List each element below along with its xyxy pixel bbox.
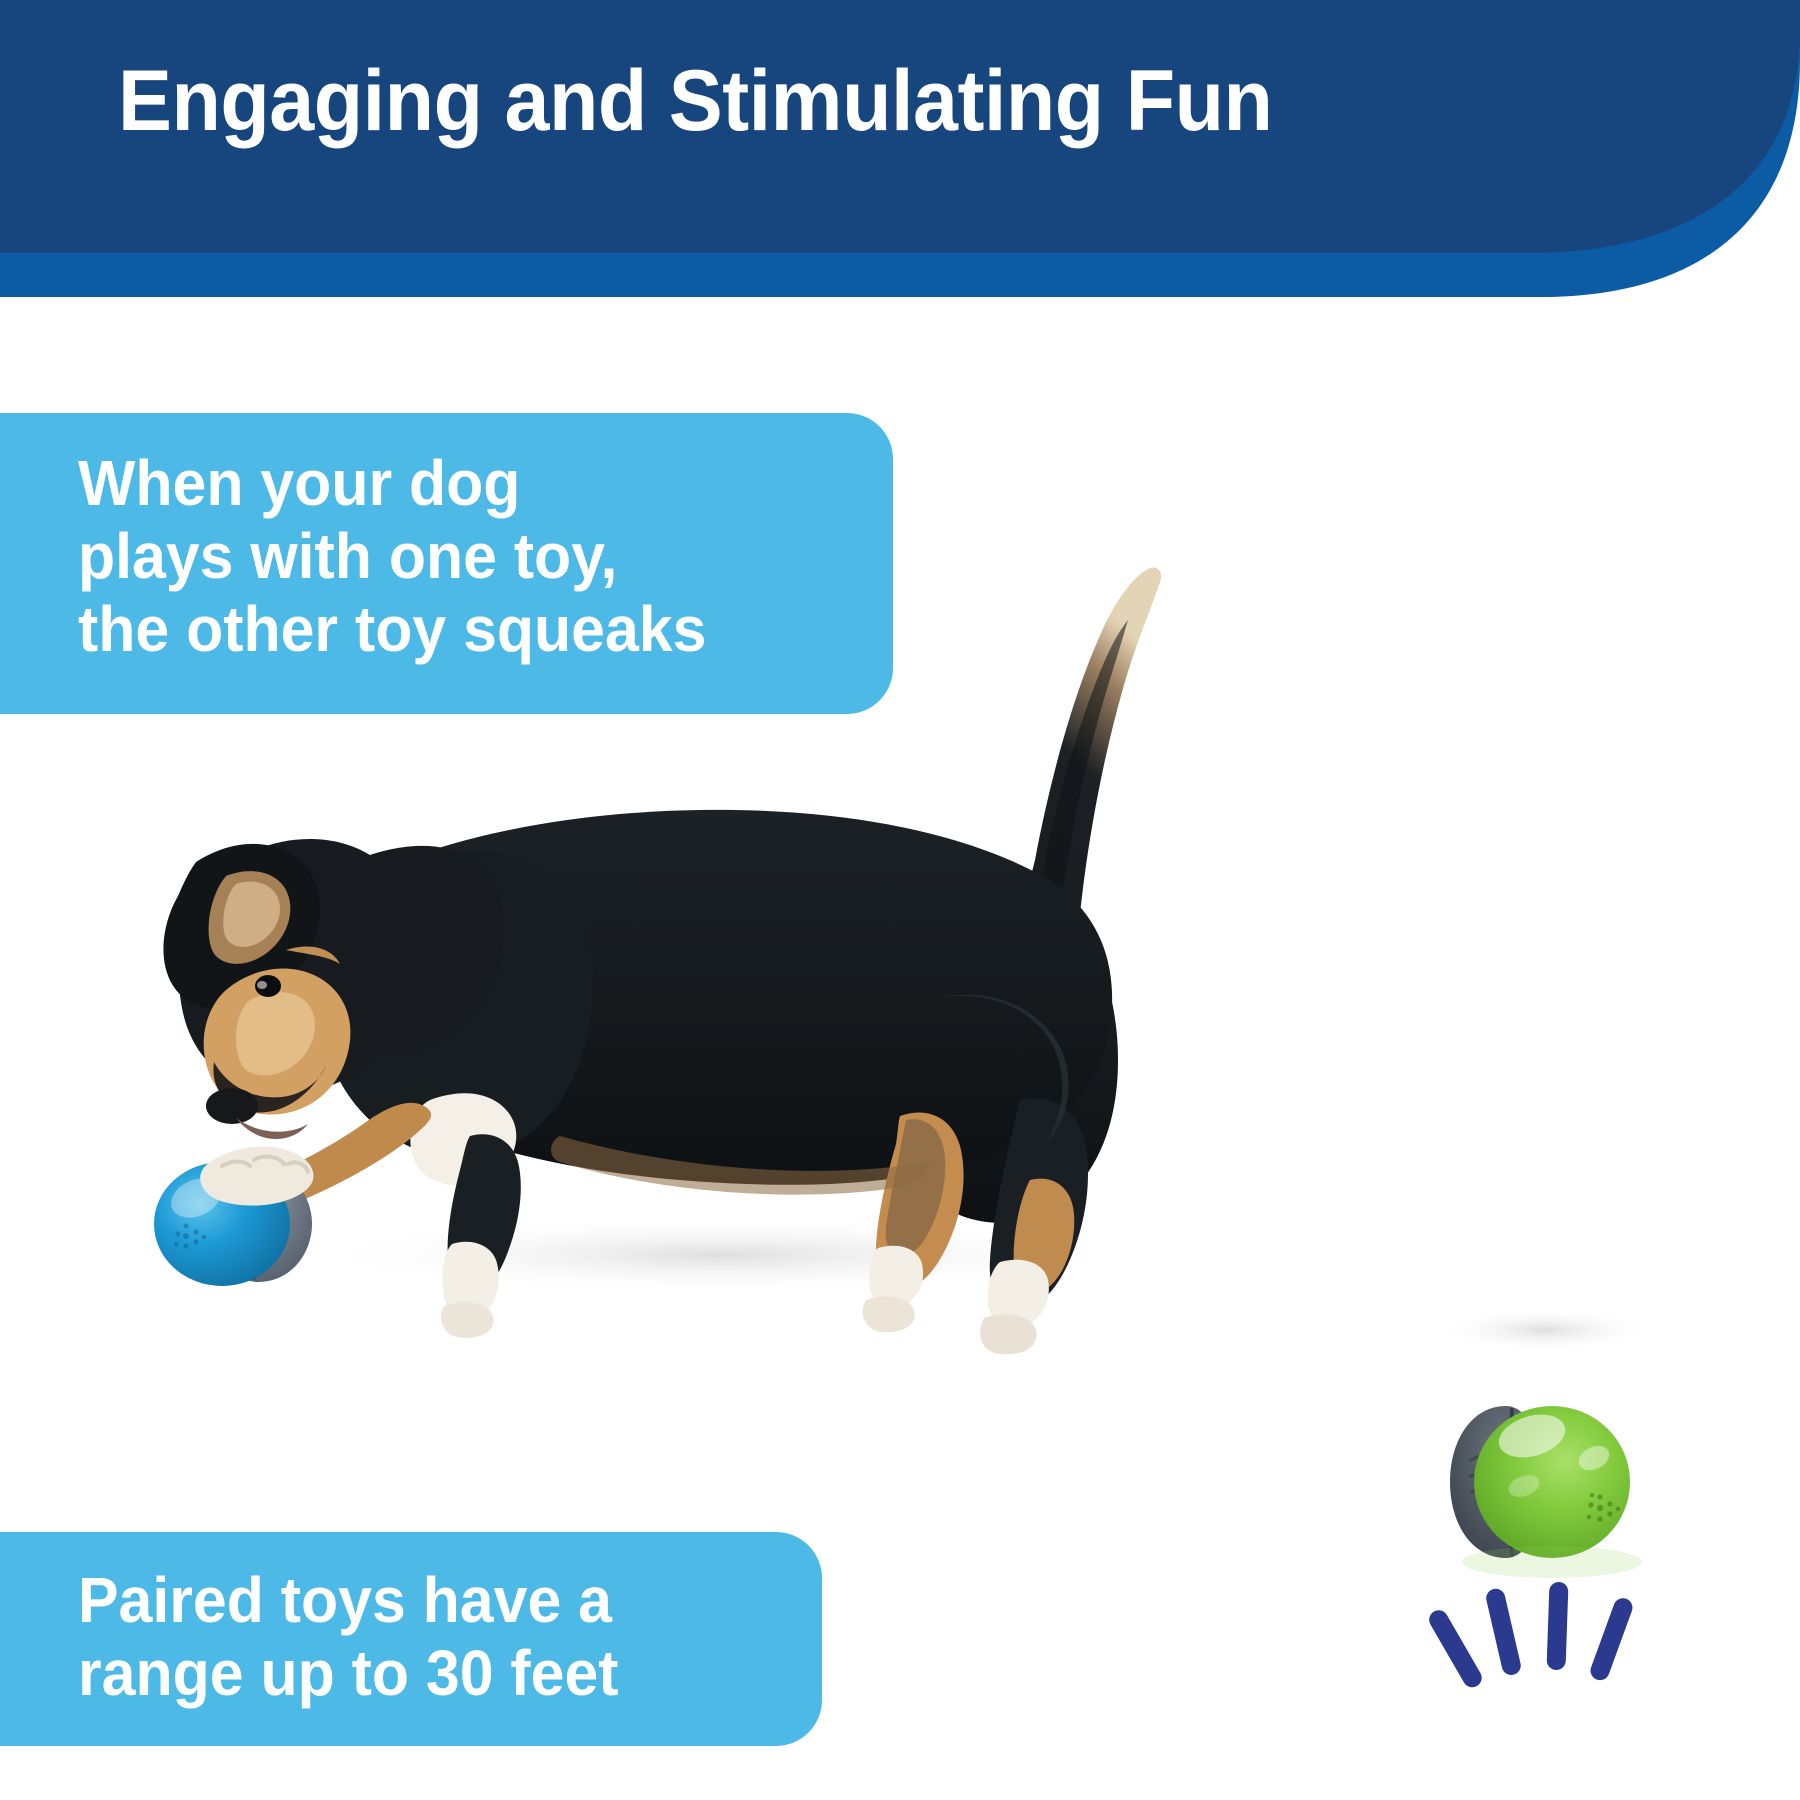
green-ball-shadow <box>1435 1308 1655 1352</box>
squeak-line-4 <box>1588 1596 1635 1683</box>
header-banner <box>0 0 1800 310</box>
dog-mouth <box>236 1118 308 1139</box>
squeak-callout-line-3: the other toy squeaks <box>78 593 852 666</box>
dog-front-foot <box>441 1302 494 1338</box>
squeak-indicator <box>1426 1582 1635 1691</box>
squeak-line-1 <box>1426 1607 1485 1691</box>
squeak-line-2 <box>1484 1587 1522 1677</box>
range-callout: Paired toys have a range up to 30 feet <box>0 1532 822 1746</box>
blue-toy-ball <box>154 1147 314 1286</box>
green-toy-ball <box>1450 1406 1642 1578</box>
range-callout-line-1: Paired toys have a <box>78 1564 785 1637</box>
dog-hind-foot-near <box>980 1314 1036 1354</box>
green-ball-glow <box>1462 1546 1642 1578</box>
range-callout-line-2: range up to 30 feet <box>78 1637 785 1710</box>
dog-eye-shine <box>257 981 267 989</box>
dog-nose <box>206 1088 258 1124</box>
squeak-callout: When your dog plays with one toy, the ot… <box>0 413 893 714</box>
squeak-callout-line-2: plays with one toy, <box>78 520 852 593</box>
page-title: Engaging and Stimulating Fun <box>118 56 1528 146</box>
marketing-image: Engaging and Stimulating Fun <box>0 0 1800 1800</box>
squeak-line-3 <box>1546 1582 1568 1671</box>
squeak-callout-line-1: When your dog <box>78 447 852 520</box>
